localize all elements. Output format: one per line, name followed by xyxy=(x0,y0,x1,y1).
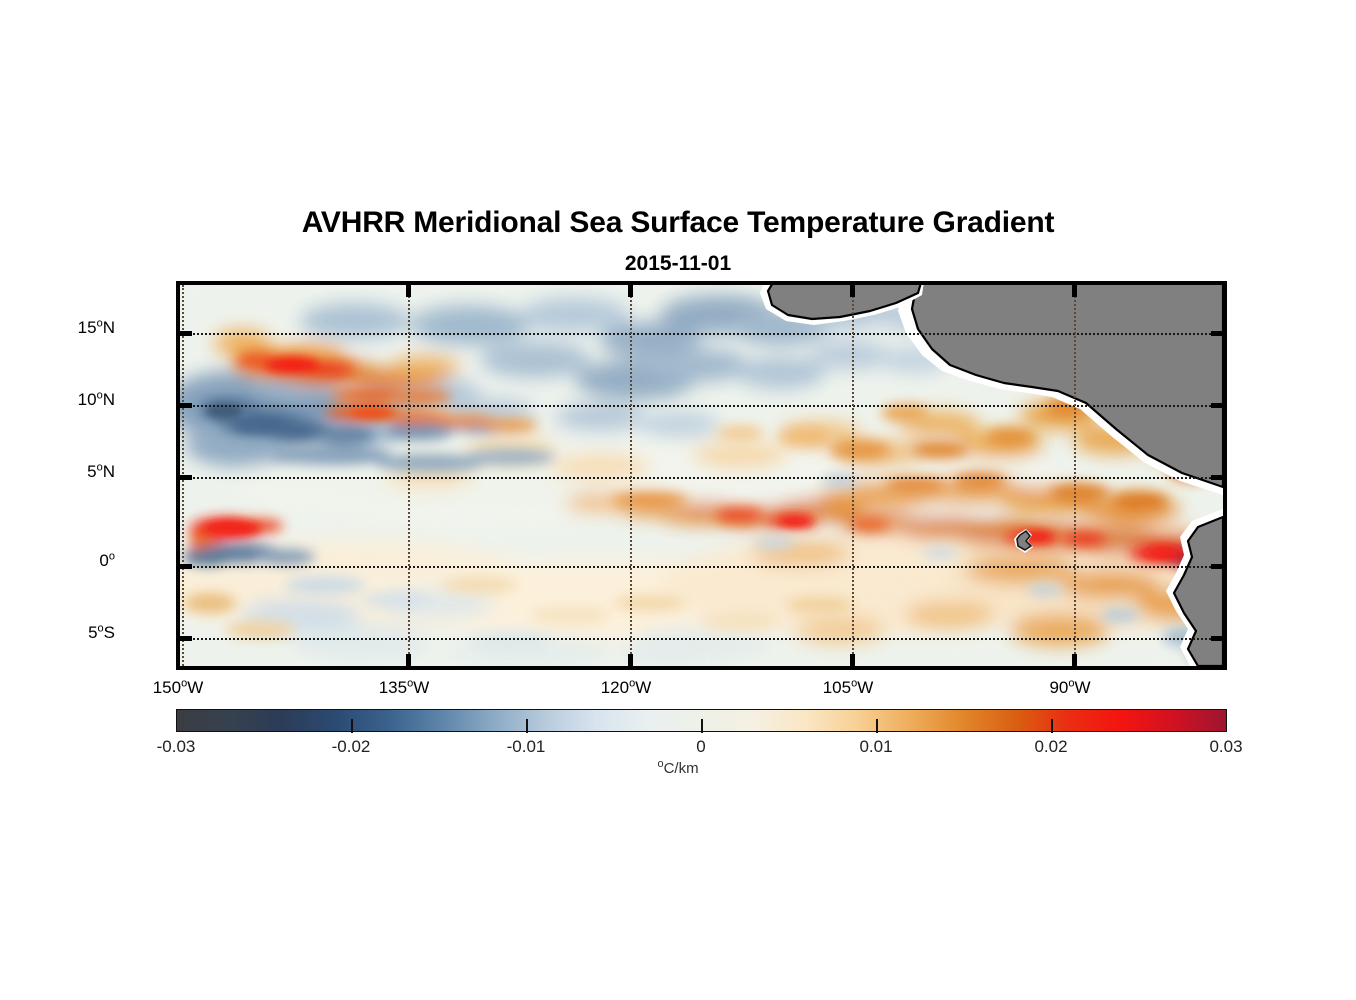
colorbar-label-0.01: 0.01 xyxy=(816,737,936,757)
xtick-label-90W-suffix: W xyxy=(1075,678,1091,697)
colorbar-label--0.02: -0.02 xyxy=(291,737,411,757)
ytick-right-15N xyxy=(1211,331,1224,336)
ytick-label-0: 0o xyxy=(0,551,115,571)
ytick-0 xyxy=(179,564,192,569)
figure-canvas: AVHRR Meridional Sea Surface Temperature… xyxy=(0,0,1356,1000)
ytick-right-10N xyxy=(1211,403,1224,408)
xtick-120W xyxy=(628,654,633,667)
ytick-label-5N-num: 5 xyxy=(87,462,96,481)
xtick-label-120W: 120oW xyxy=(556,678,696,698)
colorbar-label-0: 0 xyxy=(641,737,761,757)
ytick-15N xyxy=(179,331,192,336)
page-title: AVHRR Meridional Sea Surface Temperature… xyxy=(0,206,1356,240)
colorbar[interactable] xyxy=(176,709,1227,732)
colorbar-unit-label: oC/km xyxy=(0,760,1356,777)
colorbar-tick-0 xyxy=(701,719,703,733)
ytick-label-15N: 15oN xyxy=(0,318,115,338)
ytick-right-5S xyxy=(1211,636,1224,641)
xtick-label-90W-num: 90 xyxy=(1049,678,1068,697)
xtick-105W xyxy=(850,654,855,667)
xtick-label-150W-num: 150 xyxy=(153,678,181,697)
colorbar-tick-0.02 xyxy=(1051,719,1053,733)
xtick-label-120W-suffix: W xyxy=(635,678,651,697)
colorbar-label-0.03: 0.03 xyxy=(1166,737,1286,757)
xtick-label-150W: 150oW xyxy=(108,678,248,698)
xtick-label-120W-num: 120 xyxy=(601,678,629,697)
colorbar-label--0.01: -0.01 xyxy=(466,737,586,757)
ytick-5S xyxy=(179,636,192,641)
xtick-label-105W-num: 105 xyxy=(823,678,851,697)
xtick-top-135W xyxy=(406,284,411,297)
colorbar-unit-text: C/km xyxy=(664,760,699,777)
ytick-label-5N-suffix: N xyxy=(103,462,115,481)
sst-gradient-field xyxy=(180,285,1223,666)
colorbar-tick--0.01 xyxy=(526,719,528,733)
xtick-135W xyxy=(406,654,411,667)
degree-symbol: o xyxy=(109,550,115,562)
figure-subtitle: 2015-11-01 xyxy=(0,252,1356,276)
ytick-label-5N: 5oN xyxy=(0,462,115,482)
xtick-label-135W: 135oW xyxy=(334,678,474,698)
ytick-10N xyxy=(179,403,192,408)
xtick-label-135W-suffix: W xyxy=(413,678,429,697)
ytick-right-5N xyxy=(1211,475,1224,480)
map-axes[interactable] xyxy=(176,281,1227,670)
ytick-label-5S-suffix: S xyxy=(104,623,115,642)
ytick-label-5S: 5oS xyxy=(0,623,115,643)
ytick-label-5S-num: 5 xyxy=(88,623,97,642)
colorbar-label--0.03: -0.03 xyxy=(116,737,236,757)
ytick-label-10N: 10oN xyxy=(0,390,115,410)
ytick-label-15N-num: 15 xyxy=(78,318,97,337)
xtick-label-105W-suffix: W xyxy=(857,678,873,697)
colorbar-tick-0.01 xyxy=(876,719,878,733)
colorbar-label-0.02: 0.02 xyxy=(991,737,1111,757)
xtick-label-105W: 105oW xyxy=(778,678,918,698)
ytick-label-10N-suffix: N xyxy=(103,390,115,409)
xtick-90W xyxy=(1072,654,1077,667)
xtick-top-120W xyxy=(628,284,633,297)
xtick-top-90W xyxy=(1072,284,1077,297)
ytick-label-10N-num: 10 xyxy=(78,390,97,409)
ytick-label-15N-suffix: N xyxy=(103,318,115,337)
ytick-label-0-num: 0 xyxy=(99,551,108,570)
xtick-label-150W-suffix: W xyxy=(187,678,203,697)
ytick-right-0 xyxy=(1211,564,1224,569)
colorbar-tick--0.02 xyxy=(351,719,353,733)
xtick-label-135W-num: 135 xyxy=(379,678,407,697)
xtick-label-90W: 90oW xyxy=(1000,678,1140,698)
ytick-5N xyxy=(179,475,192,480)
xtick-top-105W xyxy=(850,284,855,297)
